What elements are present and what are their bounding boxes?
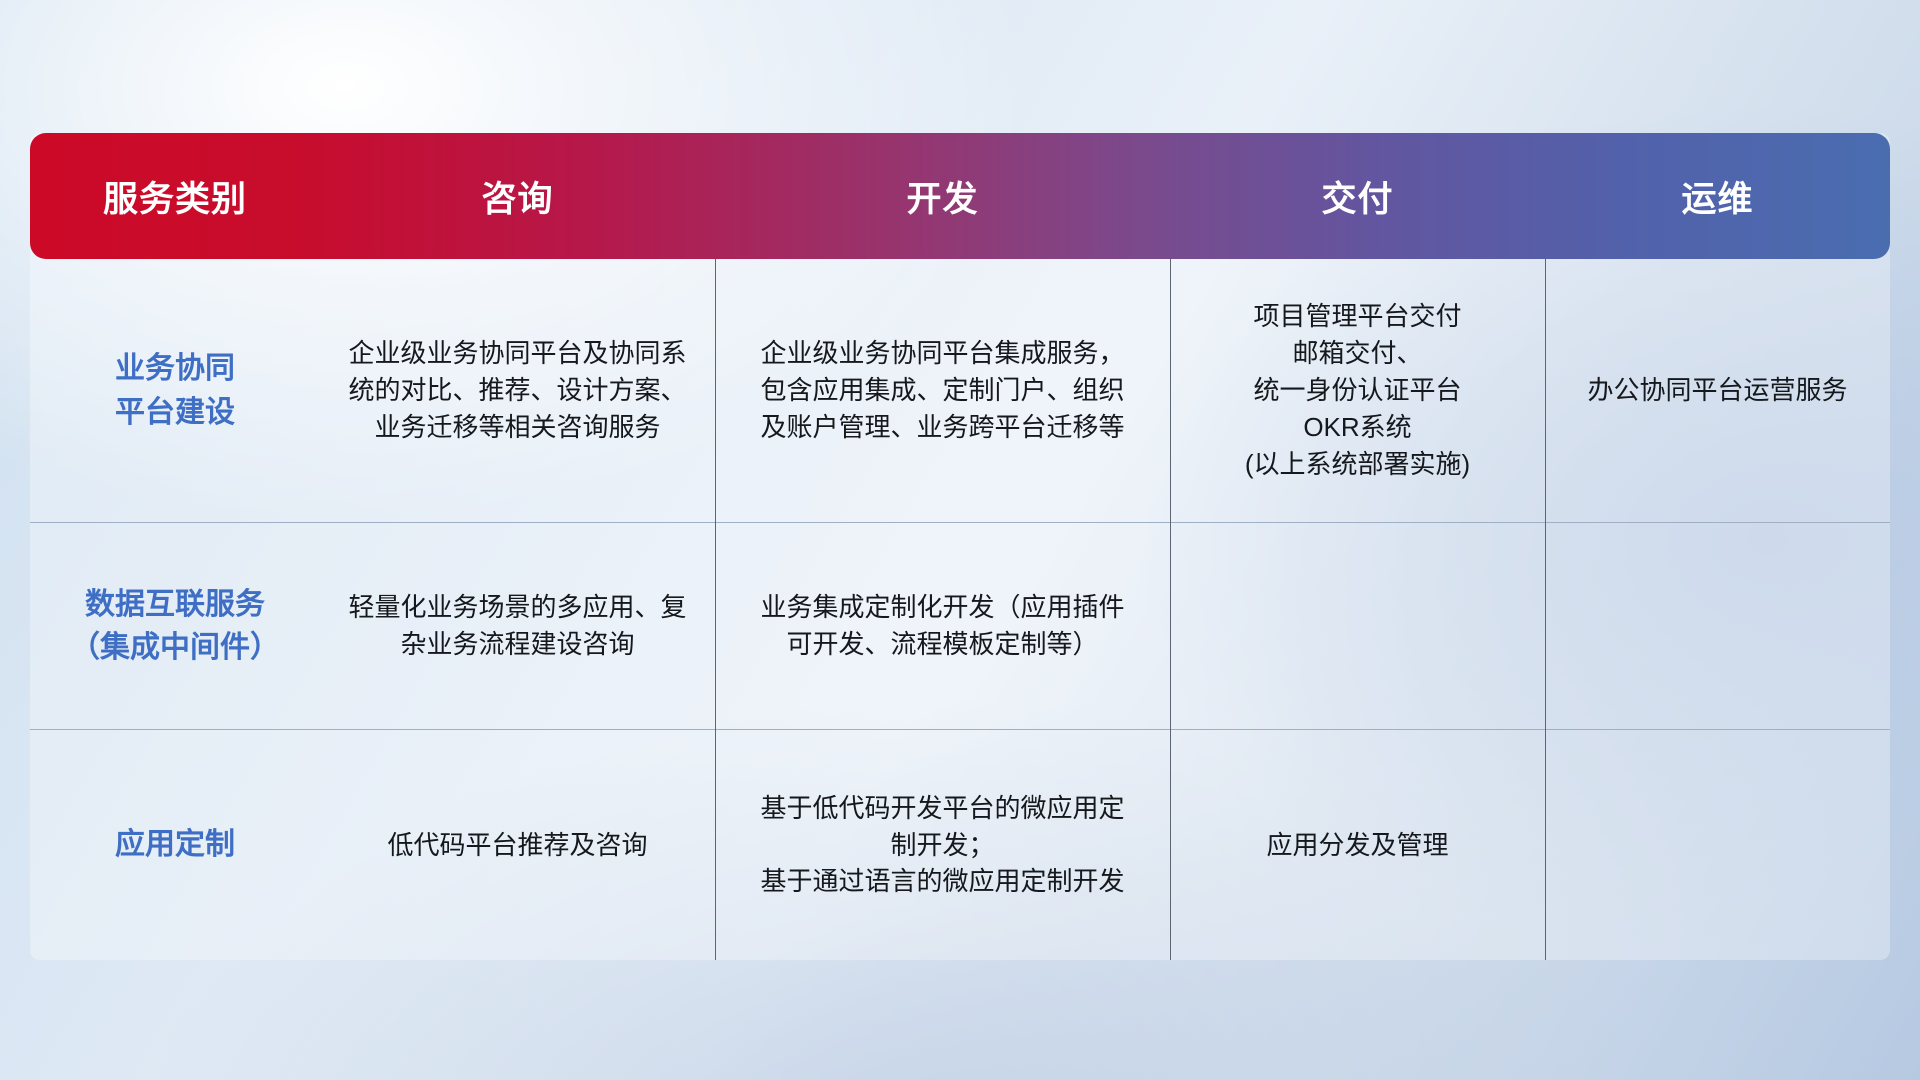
service-matrix-table: 服务类别 咨询 开发 交付 运维 业务协同 平台建设 企业级业务协同平台及协同系… <box>30 133 1890 960</box>
cell-row1-development: 业务集成定制化开发（应用插件 可开发、流程模板定制等） <box>715 523 1170 729</box>
cell-row2-operations <box>1545 730 1890 960</box>
table-row: 应用定制 低代码平台推荐及咨询 基于低代码开发平台的微应用定 制开发； 基于通过… <box>30 730 1890 960</box>
cell-row1-consulting: 轻量化业务场景的多应用、复 杂业务流程建设咨询 <box>320 523 715 729</box>
cell-row0-delivery: 项目管理平台交付 邮箱交付、 统一身份认证平台 OKR系统 (以上系统部署实施) <box>1170 259 1545 522</box>
column-header-consulting: 咨询 <box>320 171 715 222</box>
row-label-business-collaboration: 业务协同 平台建设 <box>30 259 320 522</box>
page-root: 服务类别 咨询 开发 交付 运维 业务协同 平台建设 企业级业务协同平台及协同系… <box>0 0 1920 1080</box>
row-label-data-interconnect: 数据互联服务 （集成中间件） <box>30 523 320 729</box>
table-row: 数据互联服务 （集成中间件） 轻量化业务场景的多应用、复 杂业务流程建设咨询 业… <box>30 523 1890 730</box>
cell-row2-consulting: 低代码平台推荐及咨询 <box>320 730 715 960</box>
cell-row1-delivery <box>1170 523 1545 729</box>
table-row: 业务协同 平台建设 企业级业务协同平台及协同系 统的对比、推荐、设计方案、 业务… <box>30 259 1890 523</box>
row-label-application-customization: 应用定制 <box>30 730 320 960</box>
cell-row0-operations: 办公协同平台运营服务 <box>1545 259 1890 522</box>
cell-row2-delivery: 应用分发及管理 <box>1170 730 1545 960</box>
column-divider-2 <box>1170 259 1171 960</box>
column-divider-1 <box>715 259 716 960</box>
column-header-development: 开发 <box>715 171 1170 222</box>
cell-row0-development: 企业级业务协同平台集成服务， 包含应用集成、定制门户、组织 及账户管理、业务跨平… <box>715 259 1170 522</box>
table-body: 业务协同 平台建设 企业级业务协同平台及协同系 统的对比、推荐、设计方案、 业务… <box>30 259 1890 960</box>
table-header-row: 服务类别 咨询 开发 交付 运维 <box>30 133 1890 259</box>
cell-row2-development: 基于低代码开发平台的微应用定 制开发； 基于通过语言的微应用定制开发 <box>715 730 1170 960</box>
column-divider-3 <box>1545 259 1546 960</box>
column-header-operations: 运维 <box>1545 171 1890 222</box>
column-header-delivery: 交付 <box>1170 171 1545 222</box>
column-header-service-category: 服务类别 <box>30 171 320 222</box>
cell-row1-operations <box>1545 523 1890 729</box>
cell-row0-consulting: 企业级业务协同平台及协同系 统的对比、推荐、设计方案、 业务迁移等相关咨询服务 <box>320 259 715 522</box>
